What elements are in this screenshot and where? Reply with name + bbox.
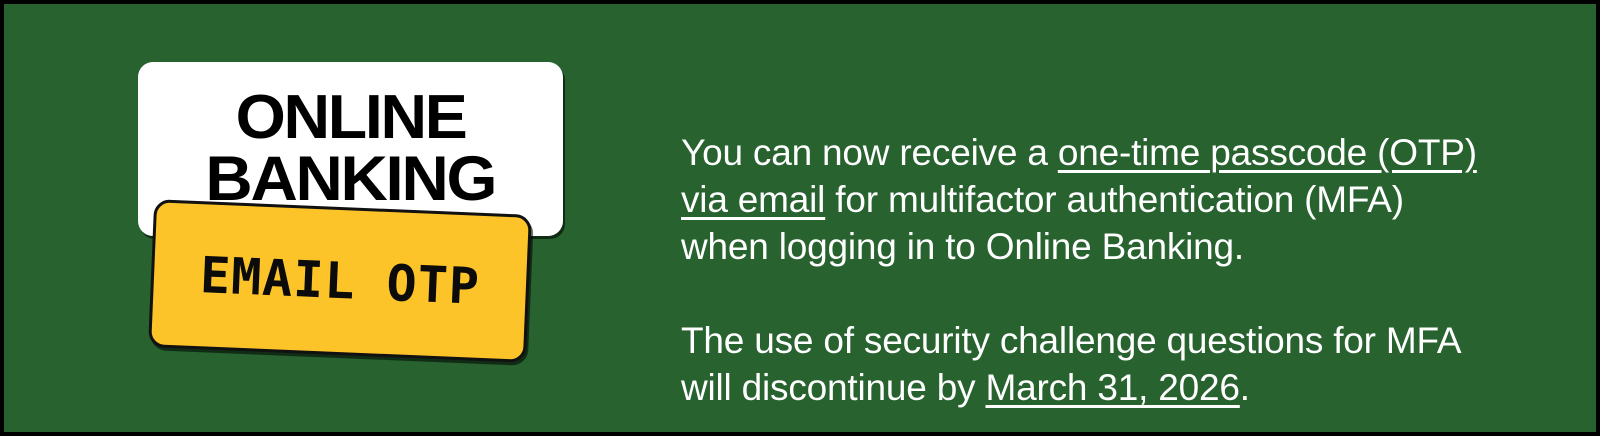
email-otp-tag-label: EMAIL OTP: [199, 246, 481, 316]
paragraph-otp-availability: You can now receive a one-time passcode …: [681, 129, 1501, 270]
badge-lockup: ONLINE BANKING EMAIL OTP: [4, 4, 604, 436]
body-text: .: [1240, 367, 1250, 408]
online-banking-title-line-2: BANKING: [206, 149, 496, 210]
email-otp-tag: EMAIL OTP: [148, 199, 532, 363]
emphasis-underlined-text[interactable]: March 31, 2026: [985, 367, 1239, 408]
online-banking-title-line-1: ONLINE: [236, 88, 466, 148]
banner-copy: You can now receive a one-time passcode …: [681, 92, 1501, 436]
promo-banner: ONLINE BANKING EMAIL OTP You can now rec…: [0, 0, 1600, 436]
paragraph-challenge-question-sunset: The use of security challenge questions …: [681, 317, 1501, 411]
body-text: You can now receive a: [681, 132, 1058, 173]
